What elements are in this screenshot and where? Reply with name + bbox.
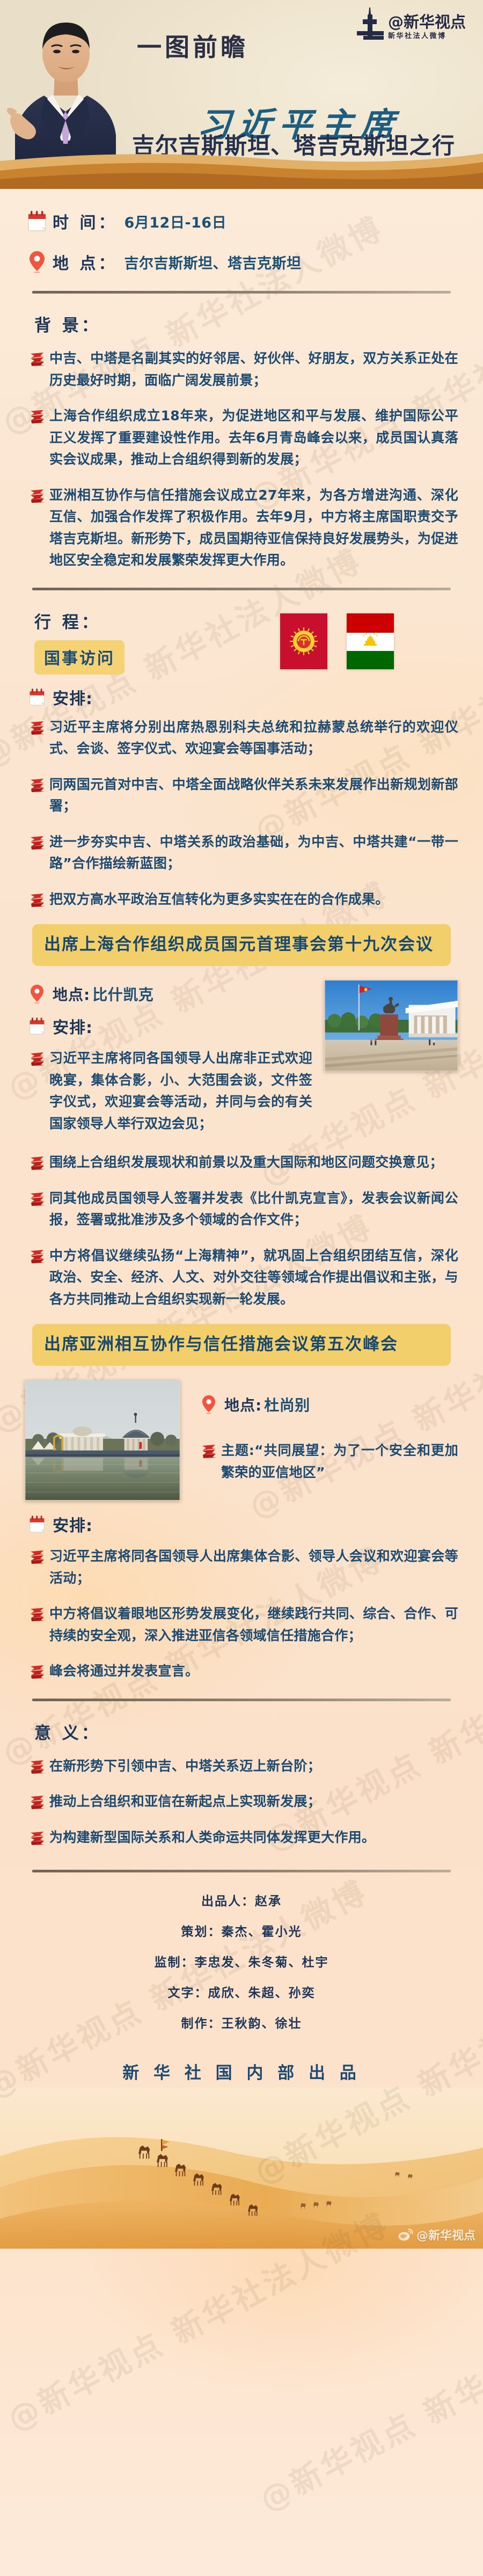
- list-item-text: 习近平主席将同各国领导人出席非正式欢迎晚宴，集体合影，小、大范围会谈，文件签字仪…: [49, 1048, 312, 1135]
- list-item: 推动上合组织和亚信在新起点上实现新发展；: [25, 1791, 458, 1813]
- sco-place-label: 地点:: [53, 983, 90, 1005]
- list-item-text: 亚洲相互协作与信任措施会议成立27年来，为各方增进沟通、深化互信、加强合作发挥了…: [49, 485, 458, 572]
- itinerary-heading: 行 程：: [34, 609, 125, 633]
- watermark-text: @新华视点 新华社法人微博: [251, 2280, 483, 2520]
- cica-place-row: 地点: 杜尚别: [196, 1394, 458, 1415]
- ribbon-bullet-icon: [25, 1660, 49, 1679]
- list-item-text: 峰会将通过并发表宣言。: [49, 1660, 199, 1682]
- hero-kicker: 一图前瞻: [137, 28, 248, 63]
- list-item: 围绕上合组织发展现状和前景以及重大国际和地区问题交换意见；: [25, 1152, 458, 1174]
- credit-producer: 出品人：赵承: [25, 1891, 458, 1909]
- ribbon-bullet-icon: [25, 485, 49, 503]
- produced-by-line: 新 华 社 国 内 部 出 品: [25, 2059, 458, 2083]
- list-item-text: 在新形势下引领中吉、中塔关系迈上新台阶；: [49, 1755, 321, 1777]
- section-divider: [32, 1699, 451, 1701]
- list-item: 同两国元首对中吉、中塔全面战略伙伴关系未来发展作出新规划新部署；: [25, 774, 458, 817]
- logo-subtitle: 新华社法人微博: [388, 33, 466, 40]
- cica-list: 习近平主席将同各国领导人出席集体合影、领导人会议和欢迎宴会等活动； 中方将倡议着…: [25, 1546, 458, 1682]
- section-divider: [32, 291, 451, 294]
- list-item-text: 中方将倡议着眼地区形势发展变化，继续践行共同、综合、合作、可持续的安全观，深入推…: [49, 1603, 458, 1646]
- list-item: 峰会将通过并发表宣言。: [25, 1660, 458, 1682]
- ribbon-bullet-icon: [25, 1245, 49, 1263]
- list-item: 进一步夯实中吉、中塔关系的政治基础，为中吉、中塔共建“一带一路”合作描绘新蓝图；: [25, 831, 458, 875]
- list-item-text: 为构建新型国际关系和人类命运共同体发挥更大作用。: [49, 1827, 375, 1849]
- itinerary-header-block: 行 程： 国事访问: [25, 609, 458, 675]
- cica-theme-row: 主题:“共同展望：为了一个安全和更加繁荣的亚信地区”: [196, 1440, 458, 1483]
- list-item-text: 中吉、中塔是名副其实的好邻居、好伙伴、好朋友，双方关系正处在历史最好时期，面临广…: [49, 348, 458, 391]
- list-item: 中方将倡议着眼地区形势发展变化，继续践行共同、综合、合作、可持续的安全观，深入推…: [25, 1603, 458, 1646]
- calendar-icon: [25, 688, 49, 706]
- list-item-text: 上海合作组织成立18年来，为促进地区和平与发展、维护国际公平正义发挥了重要建设性…: [49, 405, 458, 471]
- infographic-page: @新华视点 新华社法人微博 @新华视点 新华社法人微博 @新华视点 新华社法人微…: [0, 0, 483, 2576]
- sco-place-row: 地点: 比什凯克: [25, 983, 312, 1005]
- itinerary-list: 习近平主席将分别出席热恩别科夫总统和拉赫蒙总统举行的欢迎仪式、会谈、签字仪式、欢…: [25, 716, 458, 911]
- calendar-icon: [25, 210, 49, 232]
- ribbon-bullet-icon: [25, 1827, 49, 1845]
- ribbon-bullet-icon: [25, 1152, 49, 1170]
- credit-supervisor: 监制：李忠发、朱冬菊、杜宇: [25, 1952, 458, 1970]
- significance-heading: 意 义：: [34, 1719, 458, 1744]
- credits-block: 出品人：赵承 策划：秦杰、霍小光 监制：李忠发、朱冬菊、杜宇 文字：成欣、朱超、…: [25, 1891, 458, 2031]
- background-heading: 背 景：: [34, 312, 458, 336]
- ribbon-bullet-icon: [25, 716, 49, 735]
- dushanbe-city-photo: [25, 1380, 180, 1501]
- list-item-text: 推动上合组织和亚信在新起点上实现新发展；: [49, 1791, 321, 1813]
- significance-list: 在新形势下引领中吉、中塔关系迈上新台阶； 推动上合组织和亚信在新起点上实现新发展…: [25, 1755, 458, 1849]
- list-item: 中方将倡议继续弘扬“上海精神”，就巩固上合组织团结互信，深化政治、安全、经济、人…: [25, 1245, 458, 1311]
- ribbon-bullet-icon: [25, 405, 49, 423]
- list-item-text: 习近平主席将同各国领导人出席集体合影、领导人会议和欢迎宴会等活动；: [49, 1546, 458, 1589]
- list-item: 上海合作组织成立18年来，为促进地区和平与发展、维护国际公平正义发挥了重要建设性…: [25, 405, 458, 471]
- time-colon: ：: [98, 209, 114, 233]
- weibo-watermark: @新华视点: [398, 2226, 475, 2243]
- arrangement-label: 安排:: [53, 1014, 93, 1038]
- time-row: 时 间 ： 6月12日-16日: [25, 209, 458, 233]
- calendar-icon: [25, 1017, 49, 1035]
- time-label: 时 间: [53, 209, 98, 233]
- sco-media-row: 地点: 比什凯克 安排:: [25, 980, 458, 1148]
- list-item-text: 进一步夯实中吉、中塔关系的政治基础，为中吉、中塔共建“一带一路”合作描绘新蓝图；: [49, 831, 458, 875]
- ribbon-bullet-icon: [25, 831, 49, 850]
- list-item-text: 同两国元首对中吉、中塔全面战略伙伴关系未来发展作出新规划新部署；: [49, 774, 458, 817]
- sco-section-title: 出席上海合作组织成员国元首理事会第十九次会议: [32, 924, 451, 966]
- ribbon-bullet-icon: [25, 774, 49, 792]
- flags-row: [280, 613, 394, 669]
- weibo-logo-icon: [398, 2228, 413, 2241]
- credit-writer: 文字：成欣、朱超、孙奕: [25, 1982, 458, 2001]
- sco-arrangement-row: 安排:: [25, 1014, 312, 1038]
- time-value: 6月12日-16日: [124, 211, 226, 232]
- calendar-icon: [25, 1515, 49, 1533]
- hero-banner: 一图前瞻 @新华视点 新华社法人微博 习近平主席: [0, 0, 483, 189]
- kyrgyzstan-flag-icon: [280, 613, 327, 669]
- ribbon-bullet-icon: [25, 1546, 49, 1564]
- list-item: 习近平主席将同各国领导人出席非正式欢迎晚宴，集体合影，小、大范围会谈，文件签字仪…: [25, 1048, 312, 1135]
- cica-section-title: 出席亚洲相互协作与信任措施会议第五次峰会: [32, 1324, 451, 1366]
- sco-place-value: 比什凯克: [92, 983, 153, 1005]
- list-item-text: 把双方高水平政治互信转化为更多实实在在的合作成果。: [49, 889, 389, 911]
- hero-wave-divider: [0, 149, 483, 189]
- list-item: 习近平主席将同各国领导人出席集体合影、领导人会议和欢迎宴会等活动；: [25, 1546, 458, 1589]
- place-label: 地 点: [53, 250, 98, 274]
- ribbon-bullet-icon: [25, 1048, 49, 1066]
- location-pin-icon: [25, 251, 49, 273]
- cica-media-row: 地点: 杜尚别 主题:“共同展望：为了一个安全和更加繁荣的亚信地区”: [25, 1380, 458, 1501]
- section-divider: [32, 588, 451, 590]
- cica-arrangement-row: 安排:: [25, 1512, 458, 1536]
- place-row: 地 点 ： 吉尔吉斯斯坦、塔吉克斯坦: [25, 250, 458, 274]
- list-item: 把双方高水平政治互信转化为更多实实在在的合作成果。: [25, 889, 458, 911]
- itinerary-arrangement-row: 安排:: [25, 685, 458, 709]
- place-value: 吉尔吉斯斯坦、塔吉克斯坦: [124, 252, 301, 273]
- list-item: 为构建新型国际关系和人类命运共同体发挥更大作用。: [25, 1827, 458, 1849]
- ribbon-bullet-icon: [25, 1188, 49, 1206]
- credit-planner: 策划：秦杰、霍小光: [25, 1921, 458, 1940]
- arrangement-label: 安排:: [53, 1512, 93, 1536]
- cica-place-value: 杜尚别: [264, 1394, 310, 1415]
- list-item-text: 习近平主席将分别出席热恩别科夫总统和拉赫蒙总统举行的欢迎仪式、会谈、签字仪式、欢…: [49, 716, 458, 760]
- list-item-text: 围绕上合组织发展现状和前景以及重大国际和地区问题交换意见；: [49, 1152, 443, 1174]
- weibo-handle: @新华视点: [416, 2226, 475, 2243]
- list-item: 亚洲相互协作与信任措施会议成立27年来，为各方增进沟通、深化互信、加强合作发挥了…: [25, 485, 458, 572]
- footer-desert-illustration: @新华视点: [0, 2088, 483, 2249]
- xinhua-logo: @新华视点 新华社法人微博: [356, 8, 466, 40]
- ribbon-bullet-icon: [25, 1603, 49, 1621]
- tajikistan-flag-icon: [347, 613, 394, 669]
- ribbon-bullet-icon: [25, 1755, 49, 1774]
- list-item: 同其他成员国领导人签署并发表《比什凯克宣言》，发表会议新闻公报，签署或批准涉及多…: [25, 1188, 458, 1231]
- list-item: 中吉、中塔是名副其实的好邻居、好伙伴、好朋友，双方关系正处在历史最好时期，面临广…: [25, 348, 458, 391]
- state-visit-badge: 国事访问: [34, 640, 125, 675]
- cica-theme-label: 主题:: [221, 1443, 254, 1458]
- place-colon: ：: [98, 250, 114, 274]
- list-item-text: 同其他成员国领导人签署并发表《比什凯克宣言》，发表会议新闻公报，签署或批准涉及多…: [49, 1188, 458, 1231]
- background-list: 中吉、中塔是名副其实的好邻居、好伙伴、好朋友，双方关系正处在历史最好时期，面临广…: [25, 348, 458, 572]
- arrangement-label: 安排:: [53, 685, 93, 709]
- xinhua-tower-icon: [356, 8, 385, 40]
- bishkek-square-photo: [324, 980, 458, 1071]
- ribbon-bullet-icon: [25, 889, 49, 907]
- ribbon-bullet-icon: [25, 348, 49, 366]
- sco-list: 围绕上合组织发展现状和前景以及重大国际和地区问题交换意见； 同其他成员国领导人签…: [25, 1152, 458, 1310]
- ribbon-bullet-icon: [196, 1440, 221, 1458]
- location-pin-icon: [196, 1395, 221, 1414]
- cica-place-label: 地点:: [224, 1394, 262, 1415]
- list-item: 在新形势下引领中吉、中塔关系迈上新台阶；: [25, 1755, 458, 1777]
- list-item-text: 中方将倡议继续弘扬“上海精神”，就巩固上合组织团结互信，深化政治、安全、经济、人…: [49, 1245, 458, 1311]
- location-pin-icon: [25, 984, 49, 1004]
- content-body: 时 间 ： 6月12日-16日 地 点 ： 吉尔吉斯斯坦、塔吉克斯坦 背 景：: [0, 189, 483, 2083]
- ribbon-bullet-icon: [25, 1791, 49, 1809]
- logo-handle: @新华视点: [388, 14, 466, 30]
- cica-theme-value: “共同展望：为了一个安全和更加繁荣的亚信地区”: [221, 1443, 458, 1480]
- section-divider: [32, 1870, 451, 1872]
- list-item: 习近平主席将分别出席热恩别科夫总统和拉赫蒙总统举行的欢迎仪式、会谈、签字仪式、欢…: [25, 716, 458, 760]
- credit-designer: 制作：王秋韵、徐壮: [25, 2013, 458, 2031]
